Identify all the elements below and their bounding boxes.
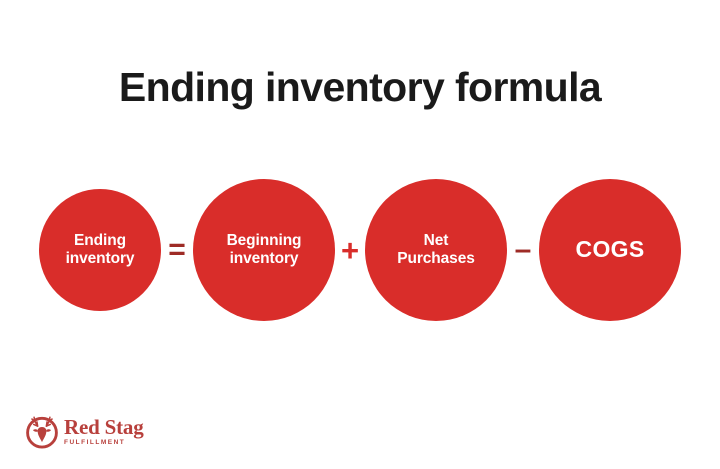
plus-sign-icon: + — [335, 235, 365, 266]
formula-term-label: Net Purchases — [391, 232, 481, 269]
formula-term-label: Ending inventory — [60, 232, 141, 269]
brand-logo: Red Stag FULFILLMENT — [24, 414, 144, 450]
minus-sign-icon: – — [507, 235, 539, 265]
formula-term-beginning-inventory: Beginning inventory — [193, 179, 335, 321]
formula-term-cogs: COGS — [539, 179, 681, 321]
formula-term-line2: inventory — [230, 250, 299, 267]
logo-tagline: FULFILLMENT — [64, 440, 144, 447]
formula-term-line1: COGS — [576, 236, 645, 262]
formula-term-ending-inventory: Ending inventory — [39, 189, 161, 311]
formula-term-line1: Net — [424, 232, 449, 249]
formula-term-line2: Purchases — [397, 250, 475, 267]
red-stag-deer-head-icon — [24, 414, 60, 450]
formula-term-label: COGS — [570, 236, 651, 263]
equals-sign-icon: = — [161, 235, 193, 265]
formula-term-net-purchases: Net Purchases — [365, 179, 507, 321]
diagram-canvas: Ending inventory formula Ending inventor… — [0, 0, 720, 469]
ending-inventory-formula: Ending inventory = Beginning inventory +… — [0, 175, 720, 325]
formula-term-line1: Beginning — [227, 232, 302, 249]
formula-term-line1: Ending — [74, 232, 126, 249]
logo-wordmark: Red Stag — [64, 417, 144, 438]
page-title: Ending inventory formula — [0, 66, 720, 109]
logo-text-block: Red Stag FULFILLMENT — [64, 417, 144, 447]
formula-term-line2: inventory — [66, 250, 135, 267]
formula-term-label: Beginning inventory — [221, 232, 308, 269]
